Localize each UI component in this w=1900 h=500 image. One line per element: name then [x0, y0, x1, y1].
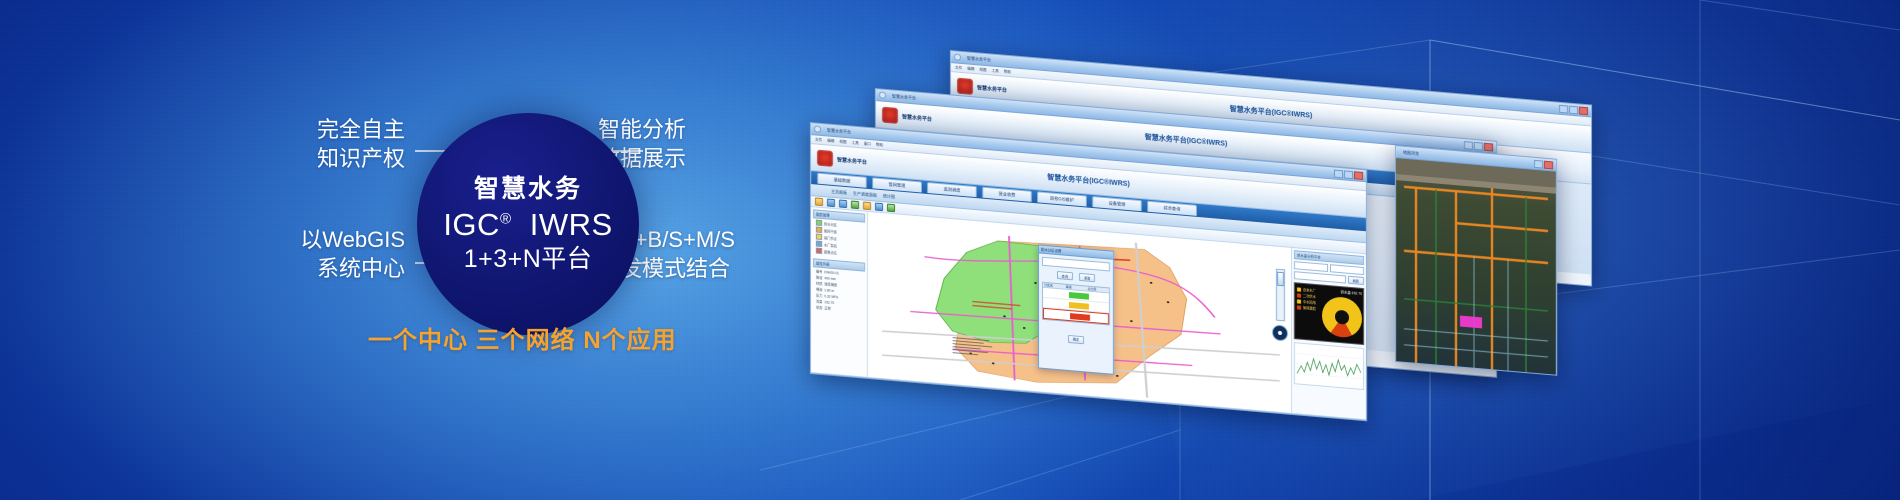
window-title-mid: 智慧水务平台 — [892, 93, 916, 101]
chart-filter-select[interactable] — [1294, 261, 1328, 272]
layer-swatch-icon — [816, 227, 822, 234]
menu-item[interactable]: 文件 — [815, 137, 822, 143]
window-controls-mid[interactable] — [1464, 141, 1493, 151]
layer-label: 报警点位 — [824, 249, 837, 255]
status-state: 就绪 — [888, 381, 894, 387]
feature-cluster: 完全自主 知识产权 以WebGIS 系统中心 智能分析 数据展示 C/S+B/S… — [280, 105, 800, 345]
attr-value: DN400-01 — [824, 270, 839, 275]
attr-name: 管径 — [816, 275, 822, 281]
attr-name: 材质 — [816, 281, 822, 287]
pan-control[interactable] — [1272, 324, 1288, 341]
minimize-icon[interactable] — [1464, 141, 1473, 150]
donut-chart: 自来水厂 二次供水 中水回用 管网漏损 供水量:152.70 — [1294, 282, 1364, 345]
legend-swatch-icon — [1297, 299, 1301, 303]
minimize-icon[interactable] — [1534, 159, 1543, 168]
minimize-icon[interactable] — [1334, 169, 1343, 178]
chart-date-select[interactable] — [1330, 264, 1364, 275]
layer-panel[interactable]: 图层管理 供水分区 管网干线 阀门节点 水厂泵站 报警点位 属性列表 编号DN4… — [811, 207, 868, 377]
screenshot-stack: 智慧水务平台 文件 编辑 视图 工具 帮助 智慧水务平台 智慧水务平台(IGC®… — [800, 50, 1860, 380]
dialog-query-button[interactable]: 查询 — [1057, 271, 1073, 280]
window-menu-icon[interactable] — [814, 125, 821, 133]
layer-swatch-icon — [816, 220, 822, 227]
window-right-map[interactable]: 地图浏览 — [1395, 145, 1557, 376]
trend-chart-svg — [1295, 343, 1363, 389]
trend-chart — [1294, 342, 1364, 390]
feature-top-right: 智能分析 数据展示 — [598, 115, 828, 173]
window-controls-rightmap[interactable] — [1534, 159, 1553, 169]
close-icon[interactable] — [1484, 142, 1493, 151]
chart-value-label: 供水量:152.70 — [1322, 288, 1362, 296]
attr-value: 球墨铸铁 — [824, 281, 837, 287]
feature-bottom-left-line2: 系统中心 — [225, 254, 405, 283]
feature-top-left-line2: 知识产权 — [225, 144, 405, 173]
attr-name: 流量 — [816, 299, 822, 305]
feature-top-left: 完全自主 知识产权 — [225, 115, 405, 173]
satellite-map-canvas — [1396, 158, 1556, 376]
chart-refresh-button[interactable]: 刷新 — [1348, 276, 1364, 285]
attr-name: 状态 — [816, 305, 822, 311]
legend-swatch-icon — [1297, 293, 1301, 297]
layer-label: 水厂泵站 — [824, 242, 837, 248]
select-tool-icon[interactable] — [851, 200, 859, 209]
menu-item[interactable]: 帮助 — [876, 142, 883, 148]
app-title-front: 智慧水务平台(IGC®IWRS) — [1047, 172, 1130, 189]
maximize-icon[interactable] — [1474, 141, 1483, 150]
attr-value: 1.80 m — [824, 288, 834, 293]
attr-name: 压力 — [816, 293, 822, 299]
legend-item: 管网漏损 — [1297, 304, 1319, 311]
close-icon[interactable] — [1544, 160, 1553, 169]
zoom-out-icon[interactable] — [839, 199, 847, 208]
feature-top-right-line1: 智能分析 — [598, 115, 828, 144]
menu-item[interactable]: 编辑 — [967, 66, 974, 72]
badge-line2: IGC® IWRS — [443, 208, 612, 243]
status-coords: 坐标 X:420516 Y:3312874 — [843, 377, 880, 385]
close-icon[interactable] — [1579, 106, 1588, 115]
attr-name: 编号 — [816, 269, 822, 275]
feature-top-left-line1: 完全自主 — [225, 115, 405, 144]
menu-item[interactable]: 工具 — [852, 140, 859, 146]
subtab-item[interactable]: 统计图 — [883, 193, 895, 200]
attr-value: 152.70 — [824, 300, 834, 305]
window-menu-icon[interactable] — [879, 91, 886, 99]
brand-text-mid: 智慧水务平台 — [902, 113, 932, 123]
attr-value: 0.32 MPa — [824, 294, 838, 299]
attr-value: 400 mm — [824, 276, 836, 281]
layer-swatch-icon — [816, 234, 822, 241]
maximize-icon[interactable] — [1569, 105, 1578, 114]
legend-swatch-icon — [1297, 287, 1301, 291]
window-controls-back[interactable] — [1559, 104, 1588, 114]
legend-label: 管网漏损 — [1303, 305, 1316, 311]
app-logo-icon — [817, 150, 833, 167]
menu-item[interactable]: 文件 — [955, 65, 962, 71]
product-badge: 智慧水务 IGC® IWRS 1+3+N平台 — [417, 113, 639, 335]
app-logo-icon — [957, 78, 973, 95]
menu-item[interactable]: 编辑 — [827, 138, 834, 144]
window-front[interactable]: 智慧水务平台 文件 编辑 视图 工具 窗口 帮助 智慧水务平台 智慧水务平台(I… — [810, 122, 1367, 421]
menu-item[interactable]: 帮助 — [1004, 69, 1011, 75]
menu-item[interactable]: 视图 — [839, 139, 846, 145]
layer-label: 供水分区 — [824, 221, 837, 227]
badge-line3: 1+3+N平台 — [464, 245, 593, 273]
brand-text-back: 智慧水务平台 — [977, 84, 1007, 94]
subtab-item[interactable]: 生产调度面板 — [853, 190, 877, 198]
maximize-icon[interactable] — [1344, 170, 1353, 179]
brand-text-front: 智慧水务平台 — [837, 156, 867, 166]
layer-swatch-icon — [816, 248, 822, 255]
window-title-rightmap: 地图浏览 — [1403, 149, 1419, 156]
measure-tool-icon[interactable] — [863, 202, 871, 211]
minimize-icon[interactable] — [1559, 104, 1568, 113]
window-controls-front[interactable] — [1334, 169, 1363, 179]
attr-name: 埋深 — [816, 287, 822, 293]
legend-label: 二次供水 — [1303, 293, 1316, 299]
subtab-item[interactable]: 主页面板 — [831, 188, 847, 195]
zoom-in-icon[interactable] — [827, 198, 835, 207]
legend-swatch-icon — [1297, 305, 1301, 309]
menu-item[interactable]: 视图 — [979, 67, 986, 73]
tagline: 一个中心 三个网络 N个应用 — [368, 320, 677, 355]
registered-mark-icon: ® — [500, 210, 512, 227]
layer-label: 阀门节点 — [824, 235, 837, 241]
feature-top-right-line2: 数据展示 — [598, 144, 828, 173]
badge-line1: 智慧水务 — [474, 175, 582, 203]
donut-graphic — [1322, 296, 1362, 339]
window-title-front: 智慧水务平台 — [827, 127, 851, 135]
legend-label: 自来水厂 — [1303, 287, 1316, 293]
identify-tool-icon[interactable] — [875, 203, 883, 212]
app-logo-icon — [882, 107, 898, 124]
zoom-slider[interactable] — [1276, 269, 1285, 322]
hero-banner: 完全自主 知识产权 以WebGIS 系统中心 智能分析 数据展示 C/S+B/S… — [0, 0, 1900, 500]
print-icon[interactable] — [887, 204, 895, 213]
analysis-panel[interactable]: 供水量分析平台 刷新 自来水厂 二次供水 — [1291, 248, 1366, 419]
dialog-input[interactable] — [1042, 257, 1110, 272]
dialog-ok-button[interactable]: 确定 — [1068, 334, 1084, 343]
badge-igc: IGC — [443, 207, 500, 242]
window-menu-icon[interactable] — [954, 53, 961, 61]
satellite-map[interactable] — [1396, 158, 1556, 376]
legend-label: 中水回用 — [1303, 299, 1316, 305]
attr-value: 正常 — [824, 305, 830, 311]
badge-iwrs: IWRS — [530, 207, 613, 242]
feature-bottom-left: 以WebGIS 系统中心 — [225, 225, 405, 283]
window-title-back: 智慧水务平台 — [967, 55, 991, 63]
feature-bottom-left-line1: 以WebGIS — [225, 225, 405, 254]
layer-swatch-icon — [816, 241, 822, 248]
pan-tool-icon[interactable] — [815, 197, 823, 206]
status-scale: 比例尺 1:5000 — [815, 374, 835, 381]
menu-item[interactable]: 工具 — [992, 68, 999, 74]
chart-range-select[interactable] — [1294, 271, 1346, 283]
layer-label: 管网干线 — [824, 228, 837, 234]
menu-item[interactable]: 窗口 — [864, 141, 871, 147]
app-title-mid: 智慧水务平台(IGC®IWRS) — [1145, 132, 1228, 149]
dialog-reset-button[interactable]: 重置 — [1079, 273, 1095, 282]
zoom-slider-thumb[interactable] — [1277, 272, 1284, 287]
close-icon[interactable] — [1354, 171, 1363, 180]
dialog-zone-config[interactable]: 配水分区设置 查询 重置 分区名 等级 占比值 — [1038, 244, 1114, 374]
pan-center-icon[interactable] — [1278, 331, 1282, 335]
